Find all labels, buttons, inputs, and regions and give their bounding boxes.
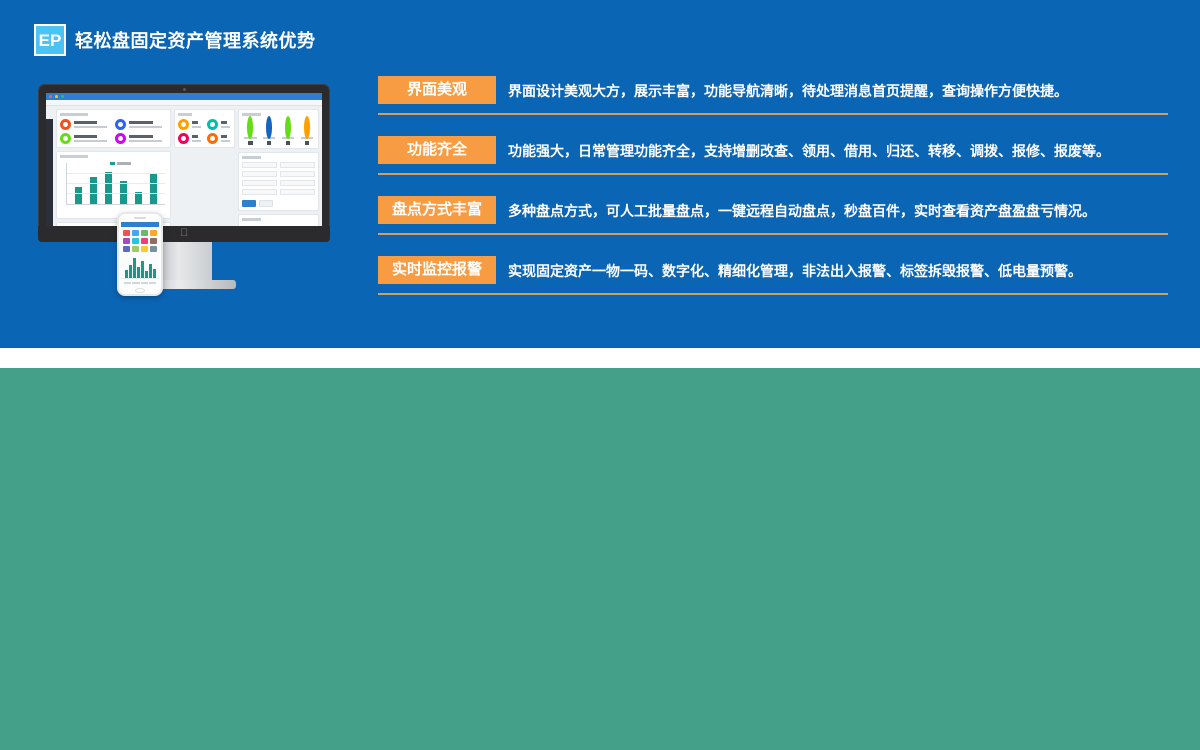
brand-title-blue: 轻松盘固定资产管理系统优势 xyxy=(75,27,316,53)
feature-tag: 实时监控报警 xyxy=(378,256,496,284)
feature-underline xyxy=(378,293,1168,295)
dashboard-titlebar xyxy=(46,93,322,100)
feature-row[interactable]: 实时监控报警 实现固定资产一物一码、数字化、精细化管理，非法出入报警、标签拆毁报… xyxy=(378,256,1168,316)
kpi-card xyxy=(238,109,319,149)
feature-tag: 界面美观 xyxy=(378,76,496,104)
ep-logo-mark: EP xyxy=(34,24,66,56)
feature-row[interactable]: 界面美观 界面设计美观大方，展示丰富，功能导航清晰，待处理消息首页提醒，查询操作… xyxy=(378,76,1168,136)
section-divider xyxy=(0,348,1200,368)
poster-page: EP 轻松盘固定资产管理系统优势 xyxy=(0,0,1200,750)
feature-tag: 盘点方式丰富 xyxy=(378,196,496,224)
smartphone-artwork xyxy=(117,212,163,296)
chart-card xyxy=(56,151,171,219)
feature-tag: 功能齐全 xyxy=(378,136,496,164)
blue-advantages-section: EP 轻松盘固定资产管理系统优势 xyxy=(0,0,1200,348)
stats-card-left xyxy=(56,109,171,148)
feature-description: 功能强大，日常管理功能齐全，支持增删改查、领用、借用、归还、转移、调拨、报修、报… xyxy=(496,136,1110,160)
feature-underline xyxy=(378,173,1168,175)
dashboard-sidebar xyxy=(46,119,53,226)
feature-row[interactable]: 盘点方式丰富 多种盘点方式，可人工批量盘点，一键远程自动盘点，秒盘百件，实时查看… xyxy=(378,196,1168,256)
feature-underline xyxy=(378,233,1168,235)
form-card xyxy=(238,152,319,211)
webcam-icon xyxy=(183,88,186,91)
feature-description: 多种盘点方式，可人工批量盘点，一键远程自动盘点，秒盘百件，实时查看资产盘盈盘亏情… xyxy=(496,196,1096,220)
monitor-bezel:  xyxy=(38,84,330,242)
apple-logo-icon:  xyxy=(180,229,188,238)
blue-feature-list: 界面美观 界面设计美观大方，展示丰富，功能导航清晰，待处理消息首页提醒，查询操作… xyxy=(378,76,1168,316)
monitor-screen xyxy=(46,93,322,226)
green-advantages-section: EP 轻松盘固定资产管理系统优势 xyxy=(0,368,1200,750)
brand-logo-blue: EP 轻松盘固定资产管理系统优势 xyxy=(34,24,316,56)
stats-card-mid xyxy=(174,109,235,148)
phone-home-button xyxy=(135,288,145,293)
bar-chart xyxy=(66,163,165,205)
monitor-chin:  xyxy=(38,226,330,242)
table-card-right xyxy=(238,214,319,226)
monitor-stand-neck xyxy=(156,242,212,280)
monitor-artwork:  xyxy=(38,84,330,296)
feature-description: 界面设计美观大方，展示丰富，功能导航清晰，待处理消息首页提醒，查询操作方便快捷。 xyxy=(496,76,1068,100)
feature-description: 实现固定资产一物一码、数字化、精细化管理，非法出入报警、标签拆毁报警、低电量预警… xyxy=(496,256,1082,280)
feature-underline xyxy=(378,113,1168,115)
dashboard-body xyxy=(46,106,322,226)
feature-row[interactable]: 功能齐全 功能强大，日常管理功能齐全，支持增删改查、领用、借用、归还、转移、调拨… xyxy=(378,136,1168,196)
